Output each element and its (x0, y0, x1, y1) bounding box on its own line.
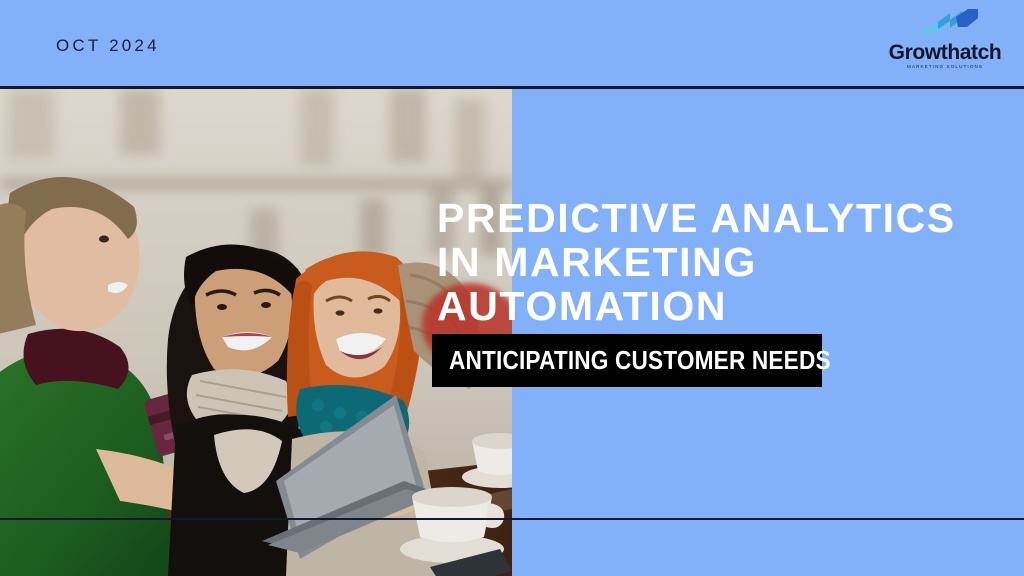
logo-tagline: MARKETING SOLUTIONS (884, 64, 1006, 69)
growthatch-chevron-mark-icon (922, 8, 980, 42)
hero-title-line-1: PREDICTIVE ANALYTICS (437, 196, 997, 240)
hero-title-line-3: AUTOMATION (437, 284, 997, 328)
hero-photo (0, 89, 512, 576)
divider-top (0, 86, 1024, 89)
brand-logo[interactable]: Growthatch MARKETING SOLUTIONS (884, 6, 1006, 78)
date-label: OCT 2024 (56, 36, 160, 56)
hero-title-line-2: IN MARKETING (437, 240, 997, 284)
marketing-banner: OCT 2024 Growthatch MARKETING SOLUTIONS (0, 0, 1024, 576)
hero-title: PREDICTIVE ANALYTICS IN MARKETING AUTOMA… (437, 196, 997, 328)
logo-wordmark: Growthatch (884, 42, 1006, 63)
divider-bottom (0, 518, 1024, 520)
hero-subtitle-text: ANTICIPATING CUSTOMER NEEDS (449, 345, 831, 376)
hero-subtitle-bar: ANTICIPATING CUSTOMER NEEDS (432, 334, 822, 387)
